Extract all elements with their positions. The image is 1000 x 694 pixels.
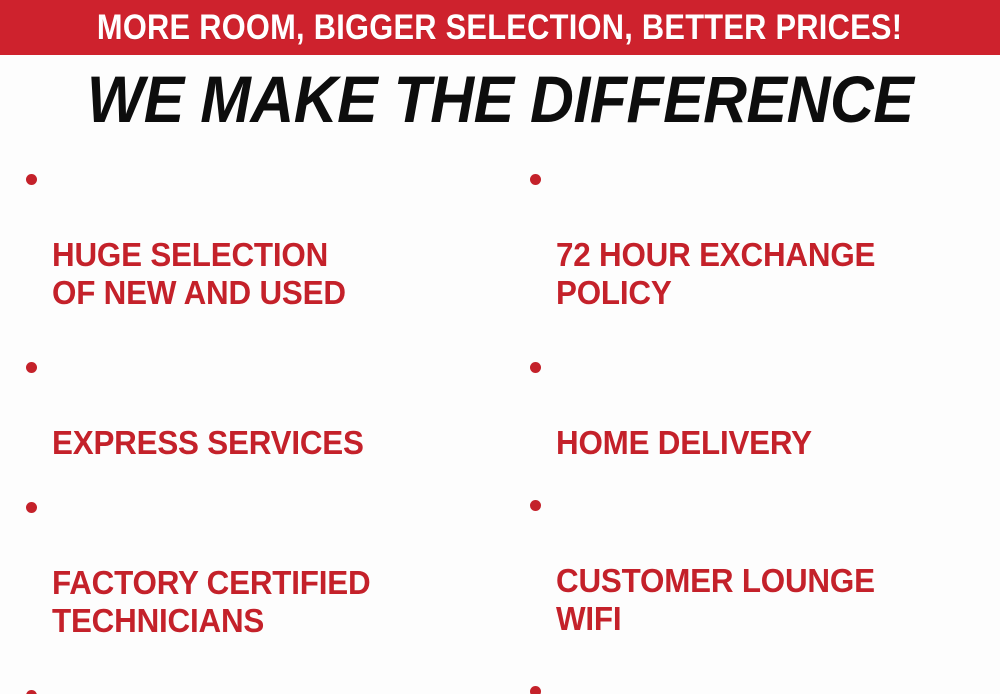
list-item-label: CUSTOMER LOUNGE WIFI (556, 562, 875, 638)
bullet-dot-icon (530, 686, 541, 694)
benefits-column-left: HUGE SELECTION OF NEW AND USED EXPRESS S… (18, 160, 500, 694)
list-item-label: EXPRESS SERVICES (52, 424, 364, 462)
list-item: EXPRESS SERVICES (18, 348, 500, 462)
list-item-label: HUGE SELECTION OF NEW AND USED (52, 236, 346, 312)
list-item-label: 72 HOUR EXCHANGE POLICY (556, 236, 875, 312)
benefits-column-right: 72 HOUR EXCHANGE POLICY HOME DELIVERY CU… (522, 160, 1000, 694)
list-item: FACTORY CERTIFIED TECHNICIANS (18, 488, 500, 640)
list-item: HUGE SELECTION OF NEW AND USED (18, 160, 500, 312)
bullet-dot-icon (530, 500, 541, 511)
top-banner: MORE ROOM, BIGGER SELECTION, BETTER PRIC… (0, 0, 1000, 55)
list-item-label: FACTORY CERTIFIED TECHNICIANS (52, 564, 370, 640)
bullet-dot-icon (26, 362, 37, 373)
bullet-dot-icon (26, 174, 37, 185)
main-headline: WE MAKE THE DIFFERENCE (0, 66, 1000, 132)
list-item-label: HOME DELIVERY (556, 424, 812, 462)
list-item: 72 HOUR EXCHANGE POLICY (522, 160, 1000, 312)
bullet-dot-icon (530, 174, 541, 185)
bullet-dot-icon (530, 362, 541, 373)
bullet-dot-icon (26, 690, 37, 694)
bullet-dot-icon (26, 502, 37, 513)
promotional-poster: MORE ROOM, BIGGER SELECTION, BETTER PRIC… (0, 0, 1000, 694)
list-item: HOME DELIVERY (522, 348, 1000, 462)
list-item: CUSTOMER LOUNGE WIFI (522, 486, 1000, 638)
banner-headline-text: MORE ROOM, BIGGER SELECTION, BETTER PRIC… (97, 10, 902, 45)
main-headline-text: WE MAKE THE DIFFERENCE (87, 66, 913, 132)
list-item: MILITARY DISCOUNTS (522, 672, 1000, 694)
list-item: COMPLIMENTARY LOANER CARS (18, 676, 500, 694)
